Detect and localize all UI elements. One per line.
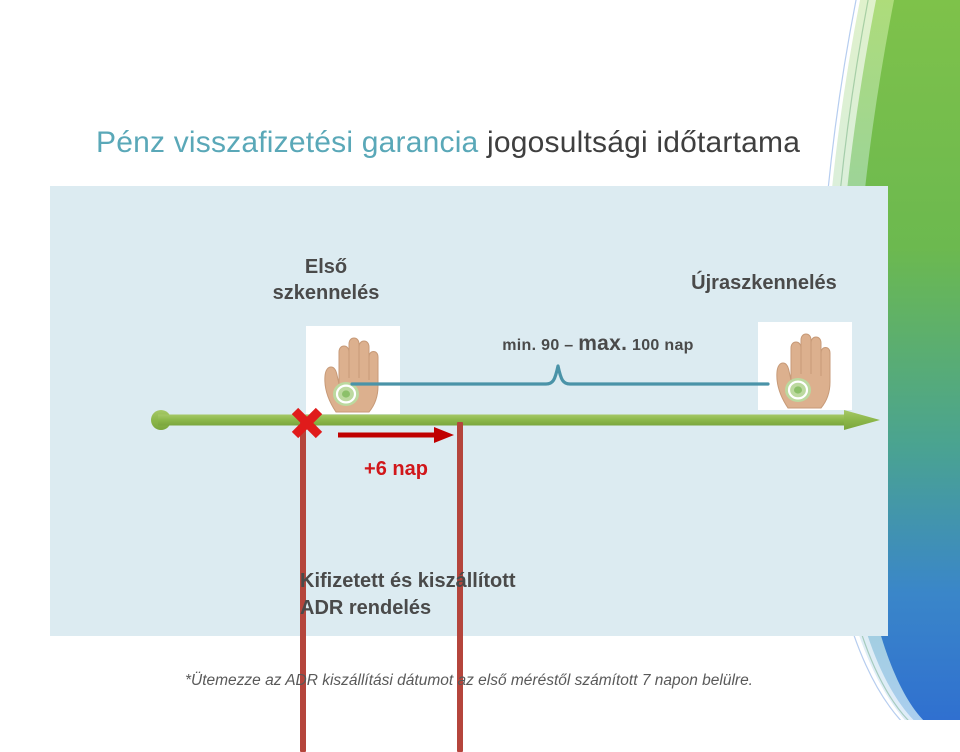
title-accent: Pénz visszafizetési garancia <box>96 126 478 159</box>
hand-scanner-icon <box>758 322 852 410</box>
rescan-label: Újraszkennelés <box>654 270 874 296</box>
duration-label: min. 90 – max. 100 nap <box>448 332 748 356</box>
order-label: Kifizetett és kiszállított ADR rendelés <box>300 568 700 622</box>
rescan-photo <box>758 322 852 410</box>
diagram-panel: Első szkennelés Újraszkennelés <box>50 186 888 636</box>
duration-emphasis: max. <box>578 332 627 355</box>
title-plain: jogosultsági időtartama <box>478 126 800 159</box>
page-title: Pénz visszafizetési garancia jogosultság… <box>96 126 876 160</box>
first-scan-label: Első szkennelés <box>236 254 416 307</box>
x-marker-icon <box>288 404 326 442</box>
duration-prefix: min. 90 – <box>502 337 578 354</box>
duration-brace <box>350 354 770 388</box>
plus-days-label: +6 nap <box>336 458 456 481</box>
plus-days-arrow <box>336 424 456 446</box>
footnote-text: *Ütemezze az ADR kiszállítási dátumot az… <box>50 672 888 690</box>
duration-suffix: 100 nap <box>627 337 693 354</box>
timeline-axis <box>150 408 880 432</box>
